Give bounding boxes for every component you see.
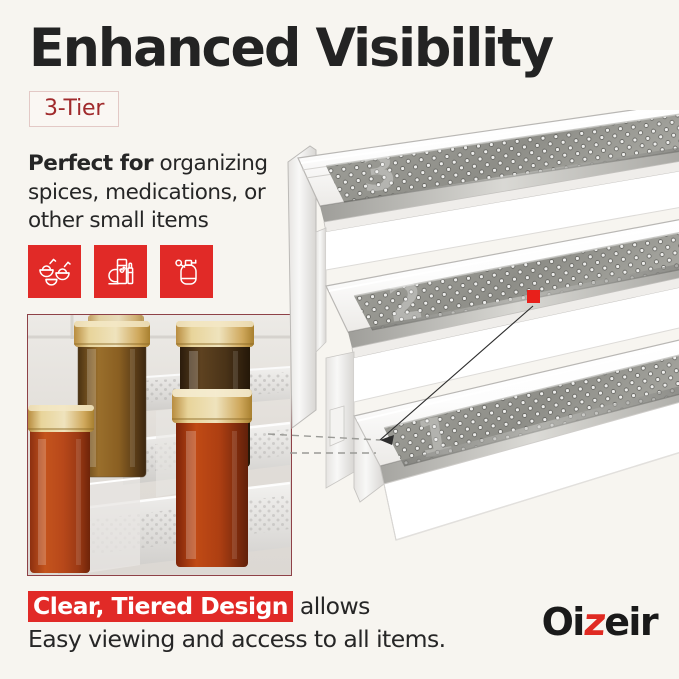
cosmetics-icon xyxy=(94,245,147,298)
caption-after: allows xyxy=(293,592,370,620)
page-title: Enhanced Visibility xyxy=(29,24,659,75)
red-callout-marker xyxy=(527,290,540,303)
feature-description-lead: Perfect for xyxy=(28,151,153,176)
status-badge: 3-Tier xyxy=(29,91,119,127)
feature-description: Perfect for organizing spices, medicatio… xyxy=(28,150,296,236)
poster-canvas: Enhanced Visibility 3-Tier Perfect for o… xyxy=(0,0,679,679)
spice-bowls-icon xyxy=(28,245,81,298)
caption-line-2: Easy viewing and access to all items. xyxy=(28,625,458,655)
product-image: 3 2 xyxy=(268,110,679,590)
bottom-caption: Clear, Tiered Design allows Easy viewing… xyxy=(28,592,458,654)
logo-part-2: z xyxy=(582,603,607,641)
perfume-bottle-icon xyxy=(160,245,213,298)
logo-part-3: eir xyxy=(604,600,657,644)
brand-logo: Oizeir xyxy=(542,603,657,641)
use-case-icon-row xyxy=(28,245,213,298)
spice-jars-photo xyxy=(27,314,292,576)
leader-line-gap xyxy=(290,448,380,458)
logo-part-1: Oi xyxy=(542,600,584,644)
caption-highlight: Clear, Tiered Design xyxy=(28,591,293,622)
spice-jars-photo-content xyxy=(28,315,291,575)
